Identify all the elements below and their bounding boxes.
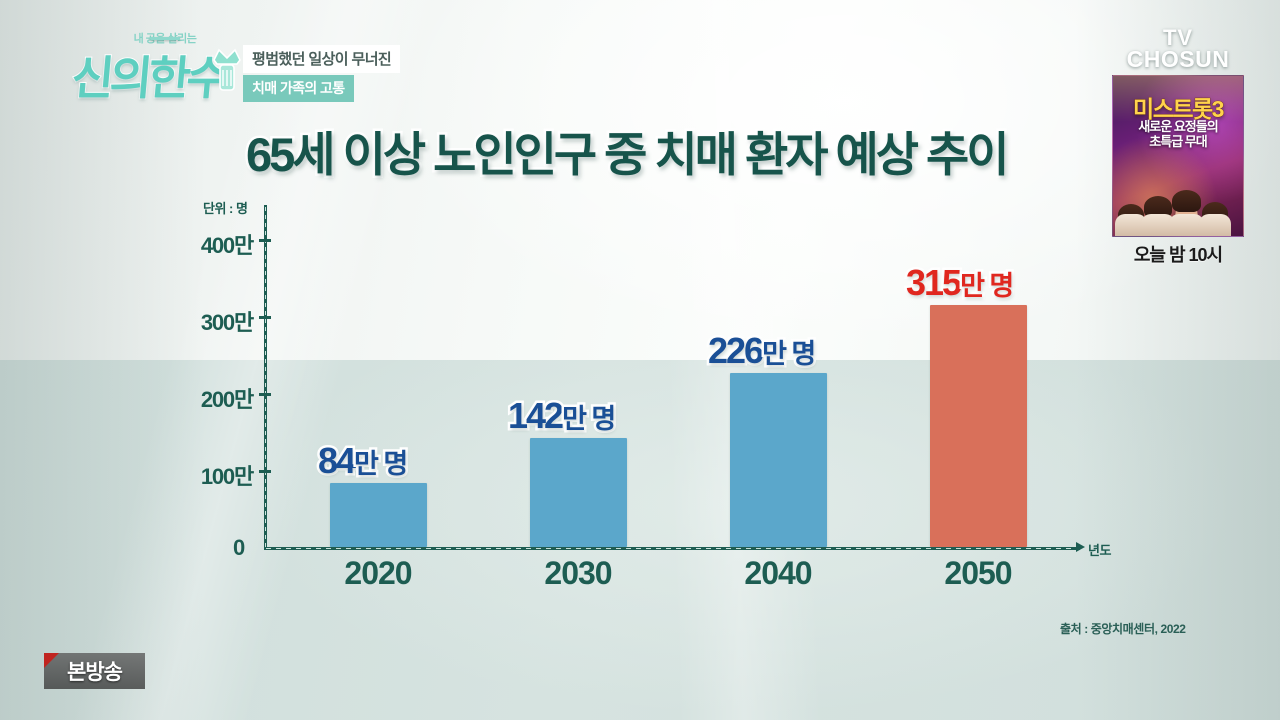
y-tick-label-0: 0 [233,535,244,561]
y-axis-dash-overlay [265,207,266,548]
y-tick-label-100: 100만 [195,459,253,491]
performer-figure [1147,202,1169,236]
bar-chart: 단위 : 명 년도 0 100만 200만 300만 400만 84만 명 14… [0,0,1280,720]
bar-2050 [930,305,1027,547]
bar-value-2050-number: 315 [906,262,960,303]
bar-value-2020: 84만 명 [318,440,407,482]
x-tick-label-2030: 2030 [508,555,648,592]
bar-value-2050-suffix: 만 명 [960,271,1013,301]
promo-subtitle-line-1: 새로운 요정들의 [1138,119,1217,134]
bar-value-2020-number: 84 [318,440,354,481]
performer-figure [1205,208,1225,236]
x-tick-label-2050: 2050 [908,555,1048,592]
badge-corner-accent [44,653,59,668]
performer-figure [1175,196,1198,236]
promo-poster[interactable]: 미스트롯3 새로운 요정들의 초특급 무대 [1112,75,1244,237]
performer-figure [1121,210,1141,236]
broadcast-screen: 내 공을 살리는 신의한수 평범했던 일상이 무너진 치매 가족의 고통 65세… [0,0,1280,720]
promo-performers-image [1113,158,1243,236]
bar-value-2030: 142만 명 [508,395,615,437]
live-broadcast-badge: 본방송 [44,653,145,689]
bar-2020 [330,483,427,547]
x-axis-dash-overlay [266,548,1078,549]
y-tick-mark-200 [259,393,271,396]
bar-2030 [530,438,627,547]
x-axis-label: 년도 [1088,540,1111,559]
promo-subtitle-line-2: 초특급 무대 [1149,134,1206,149]
bar-value-2040-number: 226 [708,330,762,371]
bar-2040 [730,373,827,547]
x-tick-label-2020: 2020 [308,555,448,592]
y-tick-mark-400 [259,239,271,242]
y-tick-label-300: 300만 [195,305,253,337]
y-tick-mark-100 [259,470,271,473]
y-tick-label-400: 400만 [195,228,253,260]
bar-value-2050: 315만 명 [906,262,1013,304]
bar-value-2030-number: 142 [508,395,562,436]
x-axis-arrow-icon [1076,542,1085,552]
live-badge-label: 본방송 [67,656,122,686]
channel-promo: TV CHOSUN 미스트롯3 새로운 요정들의 초특급 무대 오늘 밤 10시 [1112,28,1244,267]
promo-airtime: 오늘 밤 10시 [1112,241,1244,267]
promo-show-subtitle: 새로운 요정들의 초특급 무대 [1113,120,1243,150]
chart-unit-label: 단위 : 명 [203,198,247,217]
x-tick-label-2040: 2040 [708,555,848,592]
y-tick-label-200: 200만 [195,382,253,414]
bar-value-2030-suffix: 만 명 [562,404,615,434]
network-logo-line-2: CHOSUN [1112,49,1244,71]
network-logo: TV CHOSUN [1112,28,1244,70]
bar-value-2020-suffix: 만 명 [354,449,407,479]
bar-value-2040-suffix: 만 명 [762,339,815,369]
y-tick-mark-300 [259,316,271,319]
chart-source-note: 출처 : 중앙치매센터, 2022 [1060,620,1186,637]
bar-value-2040: 226만 명 [708,330,815,372]
